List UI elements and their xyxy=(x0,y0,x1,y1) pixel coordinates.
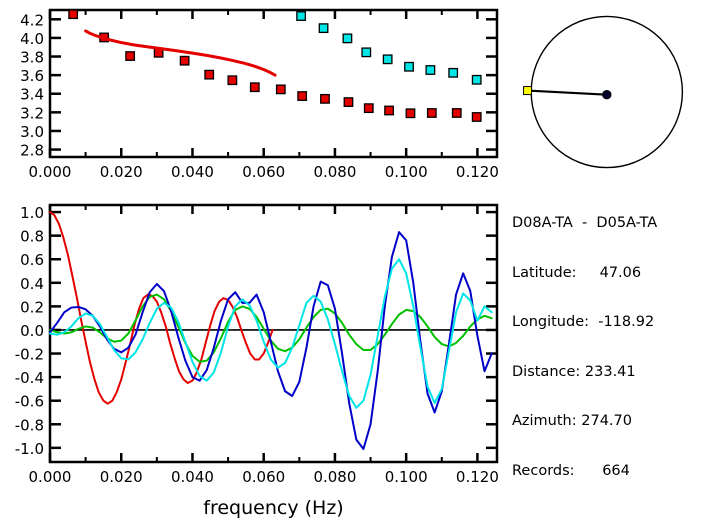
group-velocity-red-squares-marker xyxy=(180,56,189,65)
y-tick-label: 4.0 xyxy=(20,30,44,48)
station-path-line xyxy=(528,91,607,95)
x-tick-label: 0.040 xyxy=(171,163,214,181)
plot-frame xyxy=(50,10,497,157)
y-tick-label: -0.8 xyxy=(15,416,44,434)
x-tick-label: 0.080 xyxy=(313,163,356,181)
reference-curve-red-line xyxy=(86,31,275,75)
records-row: Records: 664 xyxy=(512,463,702,480)
phase-velocity-cyan-squares-marker xyxy=(383,55,392,64)
phase-velocity-cyan-squares-marker xyxy=(472,76,481,85)
y-tick-label: 2.8 xyxy=(20,142,44,160)
station-a-marker xyxy=(603,91,611,99)
x-tick-label: 0.040 xyxy=(171,468,214,486)
x-tick-label: 0.060 xyxy=(242,468,285,486)
group-velocity-red-squares-marker xyxy=(428,109,437,118)
x-tick-label: 0.120 xyxy=(456,163,499,181)
x-axis-label: frequency (Hz) xyxy=(203,497,343,519)
latitude-row: Latitude: 47.06 xyxy=(512,265,702,282)
cross-correlation-plot: 0.0000.0200.0400.0600.0800.1000.120-1.0-… xyxy=(0,195,510,520)
dispersion-plot: 0.0000.0200.0400.0600.0800.1000.1202.83.… xyxy=(0,0,510,195)
y-tick-label: -0.2 xyxy=(15,346,44,364)
group-velocity-red-squares-marker xyxy=(126,52,134,61)
y-tick-label: 0.2 xyxy=(20,298,44,316)
station-pair-title: D08A-TA - D05A-TA xyxy=(512,215,702,232)
x-tick-label: 0.100 xyxy=(385,163,428,181)
group-velocity-red-squares-marker xyxy=(251,83,259,92)
y-tick-label: 1.0 xyxy=(20,204,44,222)
group-velocity-red-squares-marker xyxy=(472,113,481,122)
x-tick-label: 0.060 xyxy=(242,163,285,181)
phase-velocity-cyan-squares-marker xyxy=(449,69,458,78)
y-tick-label: 3.8 xyxy=(20,49,44,67)
y-tick-label: -1.0 xyxy=(15,440,44,458)
info-panel: D08A-TA - D05A-TA Latitude: 47.06 Longit… xyxy=(512,182,702,512)
longitude-row: Longitude: -118.92 xyxy=(512,314,702,331)
x-tick-label: 0.120 xyxy=(456,468,499,486)
group-velocity-red-squares-marker xyxy=(406,109,415,118)
group-velocity-red-squares-marker xyxy=(365,104,374,113)
group-velocity-red-squares-marker xyxy=(321,95,330,104)
azimuth-row: Azimuth: 274.70 xyxy=(512,413,702,430)
x-tick-label: 0.080 xyxy=(313,468,356,486)
distance-row: Distance: 233.41 xyxy=(512,364,702,381)
y-tick-label: -0.6 xyxy=(15,393,44,411)
phase-velocity-cyan-squares-marker xyxy=(362,48,371,57)
group-velocity-red-squares-marker xyxy=(205,70,214,79)
y-tick-label: 3.4 xyxy=(20,86,44,104)
group-velocity-red-squares-marker xyxy=(385,106,394,115)
y-tick-label: 0.6 xyxy=(20,251,44,269)
phase-velocity-cyan-squares-marker xyxy=(405,63,414,72)
y-tick-label: 0.8 xyxy=(20,228,44,246)
x-tick-label: 0.020 xyxy=(100,163,143,181)
y-tick-label: 3.0 xyxy=(20,123,44,141)
y-tick-label: 3.6 xyxy=(20,67,44,85)
phase-velocity-cyan-squares-marker xyxy=(343,34,352,43)
x-tick-label: 0.100 xyxy=(385,468,428,486)
y-tick-label: 0.0 xyxy=(20,322,44,340)
y-tick-label: 0.4 xyxy=(20,275,44,293)
figure-root: 0.0000.0200.0400.0600.0800.1000.1202.83.… xyxy=(0,0,703,520)
phase-velocity-cyan-squares-marker xyxy=(319,24,328,32)
group-velocity-red-squares-marker xyxy=(228,76,237,85)
group-velocity-red-squares-marker xyxy=(277,85,286,94)
y-tick-label: 3.2 xyxy=(20,104,44,122)
plot-frame xyxy=(50,205,497,462)
group-velocity-red-squares-marker xyxy=(298,92,307,101)
group-velocity-red-squares-marker xyxy=(344,98,353,107)
y-tick-label: 4.2 xyxy=(20,11,44,29)
station-b-marker xyxy=(524,87,532,95)
group-velocity-red-squares-marker xyxy=(69,10,78,19)
phase-velocity-cyan-squares-marker xyxy=(297,12,306,21)
x-tick-label: 0.000 xyxy=(29,468,72,486)
x-tick-label: 0.020 xyxy=(100,468,143,486)
station-geometry-circle xyxy=(508,2,698,182)
phase-velocity-cyan-squares-marker xyxy=(426,66,435,75)
group-velocity-red-squares-marker xyxy=(453,109,462,118)
x-tick-label: 0.000 xyxy=(29,163,72,181)
y-tick-label: -0.4 xyxy=(15,369,44,387)
